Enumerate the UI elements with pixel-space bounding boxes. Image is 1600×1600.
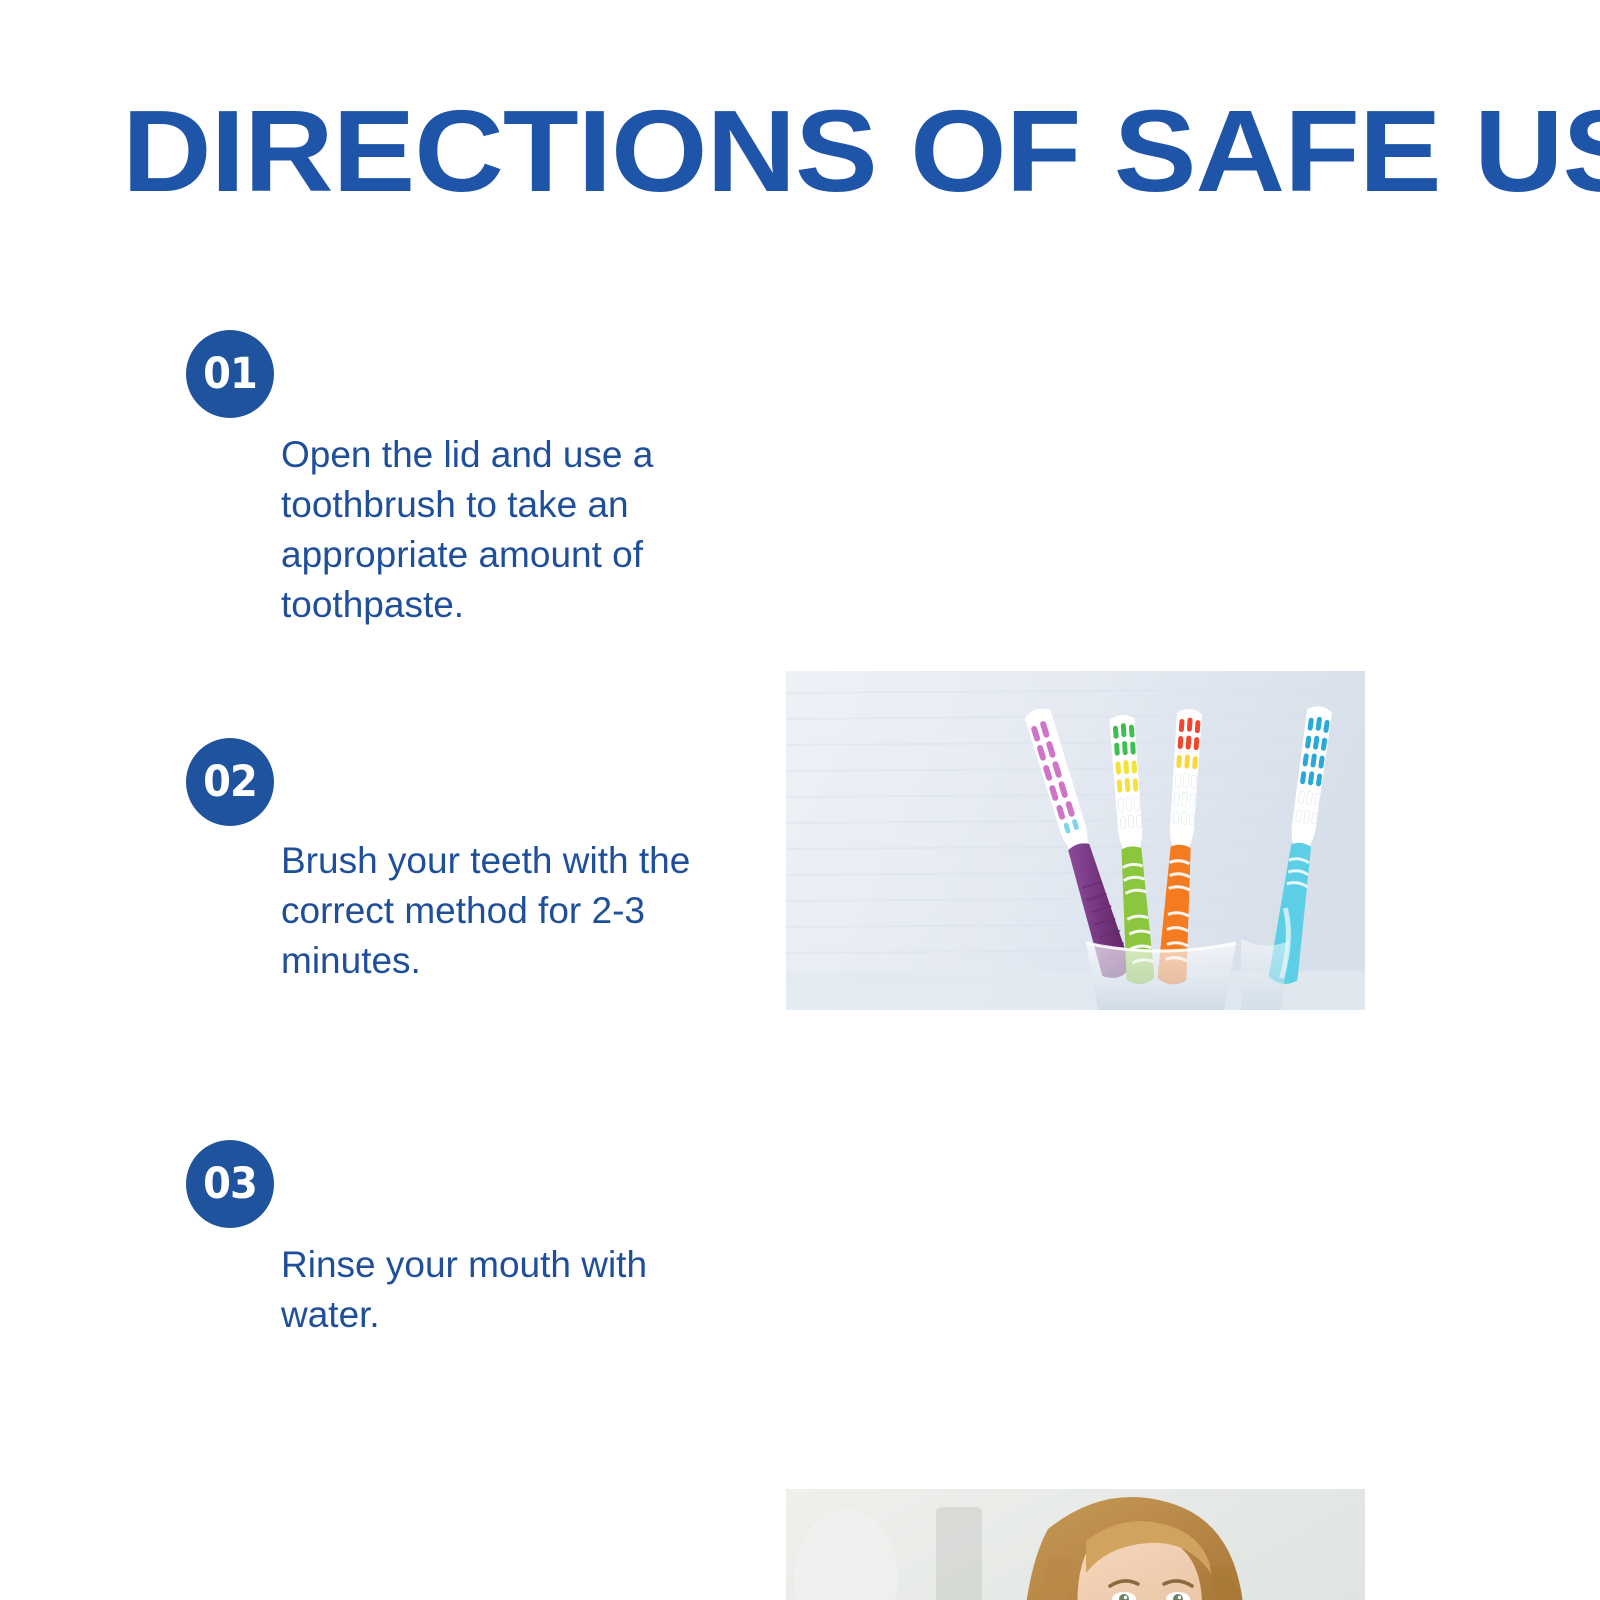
step-number-label: 02 bbox=[203, 761, 257, 803]
woman-brushing-teeth-illustration bbox=[786, 1489, 1365, 1600]
infographic-page: DIRECTIONS OF SAFE USE 01 Open the lid a… bbox=[0, 0, 1600, 1600]
toothbrushes-illustration bbox=[786, 671, 1365, 1010]
step-number-badge-02: 02 bbox=[186, 738, 274, 826]
step-number-badge-01: 01 bbox=[186, 330, 274, 418]
step-description-01: Open the lid and use a toothbrush to tak… bbox=[281, 430, 711, 630]
step-number-label: 01 bbox=[203, 353, 257, 395]
step-description-02: Brush your teeth with the correct method… bbox=[281, 836, 711, 986]
step-photo-toothbrushes bbox=[786, 671, 1365, 1010]
step-number-badge-03: 03 bbox=[186, 1140, 274, 1228]
step-number-label: 03 bbox=[203, 1163, 257, 1205]
page-title: DIRECTIONS OF SAFE USE bbox=[122, 93, 1577, 209]
step-photo-brushing-teeth bbox=[786, 1489, 1365, 1600]
step-description-03: Rinse your mouth with water. bbox=[281, 1240, 711, 1340]
